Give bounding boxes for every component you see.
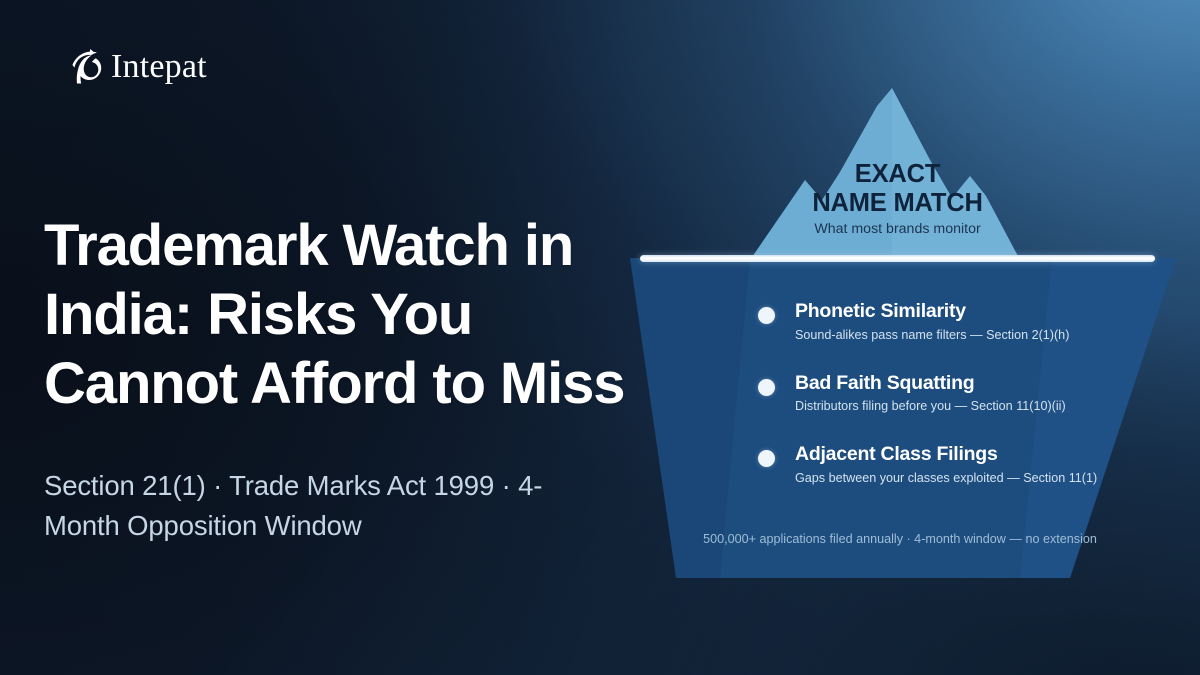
slide-canvas: Intepat Trademark Watch in India: Risks …	[0, 0, 1200, 675]
iceberg-peak-label: EXACT NAME MATCH What most brands monito…	[770, 160, 1025, 238]
risk-detail: Gaps between your classes exploited — Se…	[795, 471, 1105, 487]
brand-wordmark: Intepat	[111, 50, 207, 84]
risk-detail: Distributors filing before you — Section…	[795, 399, 1105, 415]
list-item: Bad Faith Squatting Distributors filing …	[755, 372, 1105, 416]
peak-title-line-2: NAME MATCH	[770, 189, 1025, 218]
risk-title: Phonetic Similarity	[795, 300, 1105, 324]
bullet-dot-icon	[758, 379, 775, 396]
list-item: Phonetic Similarity Sound-alikes pass na…	[755, 300, 1105, 344]
risk-title: Adjacent Class Filings	[795, 443, 1105, 467]
peak-caption: What most brands monitor	[770, 221, 1025, 238]
page-subtitle: Section 21(1) · Trade Marks Act 1999 · 4…	[44, 466, 604, 545]
waterline-divider	[640, 255, 1155, 262]
risk-detail: Sound-alikes pass name filters — Section…	[795, 328, 1105, 344]
list-item: Adjacent Class Filings Gaps between your…	[755, 443, 1105, 487]
bullet-dot-icon	[758, 307, 775, 324]
iceberg-risk-list: Phonetic Similarity Sound-alikes pass na…	[755, 300, 1105, 487]
peak-title-line-1: EXACT	[770, 160, 1025, 189]
brand-logo[interactable]: Intepat	[70, 48, 207, 86]
iceberg-footer-note: 500,000+ applications filed annually · 4…	[640, 532, 1160, 548]
bullet-dot-icon	[758, 450, 775, 467]
intepat-swirl-icon	[70, 48, 102, 86]
risk-title: Bad Faith Squatting	[795, 372, 1105, 396]
page-title: Trademark Watch in India: Risks You Cann…	[44, 211, 644, 419]
